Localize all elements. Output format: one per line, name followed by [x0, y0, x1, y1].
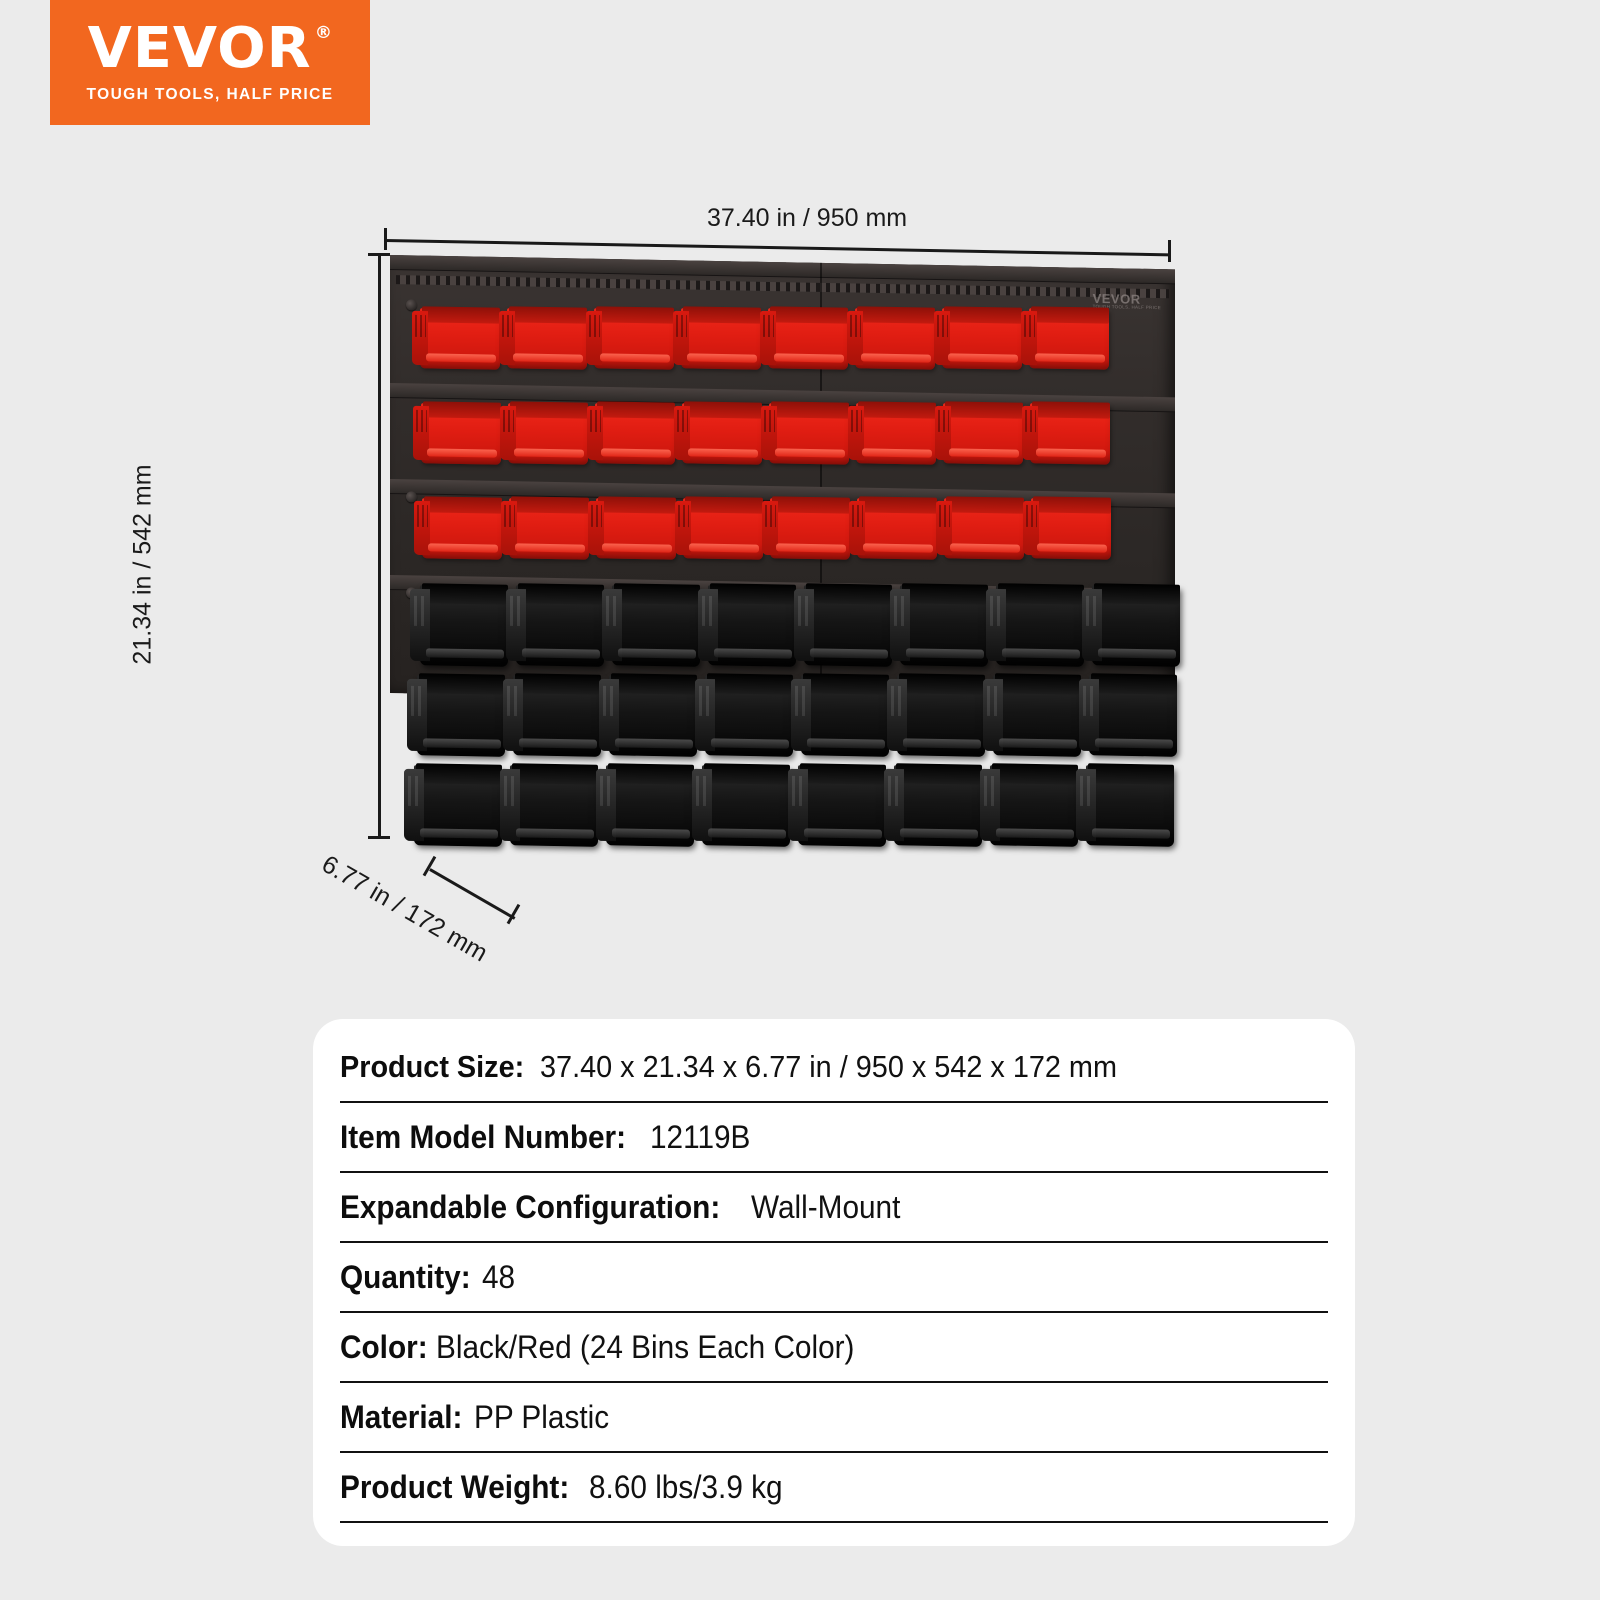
storage-bin-red [762, 493, 850, 563]
bin-mouth [422, 306, 500, 323]
bin-mouth [596, 306, 674, 323]
bin-mouth [512, 763, 598, 785]
storage-bin-black [986, 580, 1084, 672]
bin-ribs [894, 596, 908, 626]
bin-lip [1037, 543, 1107, 552]
bin-lip [861, 353, 931, 362]
bin-lip [687, 353, 757, 362]
bin-mouth [419, 673, 505, 695]
bin-lip [519, 738, 597, 748]
bin-ribs [415, 315, 426, 337]
spec-value: Black/Red (24 Bins Each Color) [436, 1329, 854, 1366]
bin-ribs [1024, 315, 1035, 337]
storage-bin-black [596, 760, 694, 852]
bin-mouth [416, 763, 502, 785]
bin-ribs [987, 686, 1001, 716]
height-dimension-label: 21.34 in / 542 mm [129, 415, 158, 715]
bin-lip [618, 648, 696, 658]
bin-mouth [422, 583, 508, 605]
storage-bin-red [934, 303, 1022, 373]
bin-ribs [589, 315, 600, 337]
bin-lip [810, 648, 888, 658]
storage-bin-red [760, 303, 848, 373]
depth-dimension-line [429, 868, 515, 919]
brand-wordmark: VEVOR ® [87, 21, 333, 77]
brand-tagline: TOUGH TOOLS, HALF PRICE [87, 86, 334, 104]
storage-bin-red [588, 493, 676, 563]
bin-mouth [707, 673, 793, 695]
storage-bin-red [936, 493, 1024, 563]
bin-ribs [763, 315, 774, 337]
storage-bin-black [695, 670, 793, 762]
bin-ribs [414, 596, 428, 626]
height-dimension-cap-top [368, 253, 390, 256]
spec-row: Expandable Configuration: Wall-Mount [340, 1173, 1328, 1243]
width-dimension-line [385, 239, 1170, 256]
storage-bin-red [412, 303, 500, 373]
bin-lip [513, 353, 583, 362]
bin-ribs [765, 505, 776, 527]
bin-ribs [798, 596, 812, 626]
spec-row: Color: Black/Red (24 Bins Each Color) [340, 1313, 1328, 1383]
bin-ribs [678, 505, 689, 527]
bin-lip [515, 543, 585, 552]
bin-ribs [938, 410, 949, 432]
spec-row: Item Model Number: 12119B [340, 1103, 1328, 1173]
bin-mouth [1031, 306, 1109, 323]
bin-lip [948, 353, 1018, 362]
storage-bin-red [1021, 303, 1109, 373]
spec-row: Product Size: 37.40 x 21.34 x 6.77 in / … [340, 1033, 1328, 1103]
bin-lip [1098, 648, 1176, 658]
bin-ribs [600, 776, 614, 806]
bin-lip [862, 448, 932, 457]
bin-row-black-3 [404, 760, 1172, 852]
storage-bin-black [884, 760, 982, 852]
bin-ribs [510, 596, 524, 626]
bin-mouth [598, 496, 676, 513]
bin-lip [1036, 448, 1106, 457]
spec-value: Wall-Mount [751, 1189, 900, 1226]
spec-label: Item Model Number: [340, 1119, 626, 1156]
bin-ribs [606, 596, 620, 626]
bin-mouth [770, 306, 848, 323]
storage-bin-black [410, 580, 508, 672]
bin-mouth [1032, 401, 1110, 418]
storage-bin-black [698, 580, 796, 672]
bin-ribs [504, 505, 515, 527]
bin-lip [1002, 648, 1080, 658]
bin-lip [775, 448, 845, 457]
bin-ribs [851, 410, 862, 432]
bin-lip [615, 738, 693, 748]
bin-row-black-1 [410, 580, 1178, 672]
bin-ribs [891, 686, 905, 716]
storage-bin-red [673, 303, 761, 373]
bin-ribs [417, 505, 428, 527]
storage-bin-black [1082, 580, 1180, 672]
storage-bin-red [675, 493, 763, 563]
spec-label: Expandable Configuration: [340, 1189, 720, 1226]
bin-lip [714, 648, 792, 658]
storage-bin-red [848, 398, 936, 468]
bin-lip [689, 543, 759, 552]
bin-lip [903, 738, 981, 748]
bin-mouth [614, 583, 700, 605]
bin-ribs [764, 410, 775, 432]
storage-bin-black [599, 670, 697, 762]
bin-lip [950, 543, 1020, 552]
bin-lip [612, 828, 690, 838]
bin-ribs [677, 410, 688, 432]
brand-wordmark-text: VEVOR [87, 21, 311, 77]
storage-bin-black [404, 760, 502, 852]
depth-dimension-label: 6.77 in / 172 mm [317, 850, 493, 968]
spec-label: Product Weight: [340, 1469, 569, 1506]
bin-row-red-2 [413, 398, 1109, 468]
bin-ribs [1086, 596, 1100, 626]
bin-ribs [416, 410, 427, 432]
bin-ribs [699, 686, 713, 716]
storage-bin-black [1079, 670, 1177, 762]
storage-bin-black [887, 670, 985, 762]
storage-bin-red [761, 398, 849, 468]
height-dimension-cap-bottom [368, 836, 390, 839]
storage-bin-red [1022, 398, 1110, 468]
bin-lip [428, 543, 498, 552]
bin-mouth [509, 306, 587, 323]
bin-mouth [946, 496, 1024, 513]
bin-mouth [424, 496, 502, 513]
storage-bin-red [499, 303, 587, 373]
bin-mouth [944, 306, 1022, 323]
bin-lip [711, 738, 789, 748]
spec-value: 12119B [650, 1119, 750, 1156]
bin-ribs [990, 596, 1004, 626]
bin-lip [949, 448, 1019, 457]
bin-mouth [1033, 496, 1111, 513]
storage-bin-red [501, 493, 589, 563]
bin-mouth [685, 496, 763, 513]
bin-lip [1092, 828, 1170, 838]
bin-mouth [806, 583, 892, 605]
spec-value: 37.40 x 21.34 x 6.77 in / 950 x 542 x 17… [540, 1049, 1117, 1085]
bin-mouth [800, 763, 886, 785]
spec-row: Material: PP Plastic [340, 1383, 1328, 1453]
bin-ribs [504, 776, 518, 806]
specification-list: Product Size: 37.40 x 21.34 x 6.77 in / … [340, 1033, 1328, 1523]
height-dimension-line [378, 254, 381, 838]
spec-value: PP Plastic [474, 1399, 609, 1436]
bin-lip [688, 448, 758, 457]
bin-ribs [1083, 686, 1097, 716]
bin-mouth [515, 673, 601, 695]
storage-bin-red [587, 398, 675, 468]
storage-bin-red [586, 303, 674, 373]
bin-ribs [507, 686, 521, 716]
storage-bin-black [506, 580, 604, 672]
bin-mouth [896, 763, 982, 785]
bin-lip [427, 448, 497, 457]
bin-lip [996, 828, 1074, 838]
bin-mouth [902, 583, 988, 605]
bin-lip [1095, 738, 1173, 748]
bin-lip [423, 738, 501, 748]
bin-row-red-3 [414, 493, 1110, 563]
bin-lip [776, 543, 846, 552]
bin-ribs [591, 505, 602, 527]
bin-lip [906, 648, 984, 658]
bin-lip [600, 353, 670, 362]
bin-mouth [518, 583, 604, 605]
spec-label: Product Size: [340, 1049, 524, 1085]
storage-bin-black [602, 580, 700, 672]
storage-bin-black [890, 580, 988, 672]
bin-mouth [683, 306, 761, 323]
bin-ribs [1080, 776, 1094, 806]
storage-bin-black [503, 670, 601, 762]
bin-mouth [704, 763, 790, 785]
storage-bin-black [788, 760, 886, 852]
bin-mouth [857, 306, 935, 323]
bin-mouth [859, 496, 937, 513]
wall-mount-bin-rack: VEVOR TOUGH TOOLS, HALF PRICE [390, 255, 1175, 855]
bin-ribs [888, 776, 902, 806]
registered-trademark-icon: ® [314, 25, 332, 42]
storage-bin-black [983, 670, 1081, 762]
bin-ribs [603, 686, 617, 716]
spec-row: Quantity: 48 [340, 1243, 1328, 1313]
bin-lip [426, 353, 496, 362]
storage-bin-black [794, 580, 892, 672]
width-dimension-cap-left [384, 228, 387, 250]
bin-ribs [852, 505, 863, 527]
bin-ribs [676, 315, 687, 337]
storage-bin-black [692, 760, 790, 852]
bin-lip [516, 828, 594, 838]
bin-mouth [998, 583, 1084, 605]
bin-mouth [858, 401, 936, 418]
bin-ribs [795, 686, 809, 716]
bin-mouth [771, 401, 849, 418]
spec-label: Color: [340, 1329, 428, 1366]
bin-ribs [503, 410, 514, 432]
bin-row-black-2 [407, 670, 1175, 762]
bin-lip [601, 448, 671, 457]
bin-lip [602, 543, 672, 552]
storage-bin-red [935, 398, 1023, 468]
bin-lip [1035, 353, 1105, 362]
bin-lip [522, 648, 600, 658]
bin-mouth [803, 673, 889, 695]
bin-ribs [590, 410, 601, 432]
storage-bin-red [674, 398, 762, 468]
bin-mouth [710, 583, 796, 605]
bin-ribs [502, 315, 513, 337]
bin-lip [514, 448, 584, 457]
storage-bin-red [1023, 493, 1111, 563]
bin-lip [426, 648, 504, 658]
bin-mouth [992, 763, 1078, 785]
product-figure: 37.40 in / 950 mm 21.34 in / 542 mm 6.77… [0, 150, 1600, 990]
spec-value: 8.60 lbs/3.9 kg [589, 1469, 783, 1506]
bin-ribs [411, 686, 425, 716]
storage-bin-black [791, 670, 889, 762]
bin-lip [774, 353, 844, 362]
bin-lip [804, 828, 882, 838]
width-dimension-label: 37.40 in / 950 mm [707, 204, 907, 233]
storage-bin-black [500, 760, 598, 852]
bin-mouth [1088, 763, 1174, 785]
bin-mouth [423, 401, 501, 418]
storage-bin-black [1076, 760, 1174, 852]
bin-lip [807, 738, 885, 748]
bin-lip [708, 828, 786, 838]
bin-mouth [597, 401, 675, 418]
bin-mouth [510, 401, 588, 418]
bin-mouth [899, 673, 985, 695]
storage-bin-red [500, 398, 588, 468]
bin-mouth [1094, 583, 1180, 605]
bin-mouth [684, 401, 762, 418]
bin-ribs [696, 776, 710, 806]
storage-bin-red [847, 303, 935, 373]
storage-bin-red [414, 493, 502, 563]
bin-mouth [945, 401, 1023, 418]
bin-ribs [1026, 505, 1037, 527]
bin-row-red-1 [412, 303, 1108, 373]
bin-ribs [1025, 410, 1036, 432]
spec-label: Quantity: [340, 1259, 471, 1296]
spec-label: Material: [340, 1399, 462, 1436]
storage-bin-black [407, 670, 505, 762]
bin-ribs [939, 505, 950, 527]
spec-row: Product Weight: 8.60 lbs/3.9 kg [340, 1453, 1328, 1523]
bin-ribs [792, 776, 806, 806]
specification-card: Product Size: 37.40 x 21.34 x 6.77 in / … [313, 1019, 1355, 1546]
bin-lip [900, 828, 978, 838]
bin-ribs [408, 776, 422, 806]
storage-bin-red [849, 493, 937, 563]
spec-value: 48 [482, 1259, 515, 1296]
bin-mouth [772, 496, 850, 513]
storage-bin-red [413, 398, 501, 468]
bin-mouth [611, 673, 697, 695]
bin-mouth [608, 763, 694, 785]
bin-mouth [511, 496, 589, 513]
vevor-logo: VEVOR ® TOUGH TOOLS, HALF PRICE [50, 0, 370, 125]
bin-ribs [984, 776, 998, 806]
bin-ribs [702, 596, 716, 626]
bin-lip [999, 738, 1077, 748]
bin-lip [420, 828, 498, 838]
bin-lip [863, 543, 933, 552]
bin-mouth [995, 673, 1081, 695]
bin-ribs [850, 315, 861, 337]
storage-bin-black [980, 760, 1078, 852]
bin-mouth [1091, 673, 1177, 695]
bin-ribs [937, 315, 948, 337]
